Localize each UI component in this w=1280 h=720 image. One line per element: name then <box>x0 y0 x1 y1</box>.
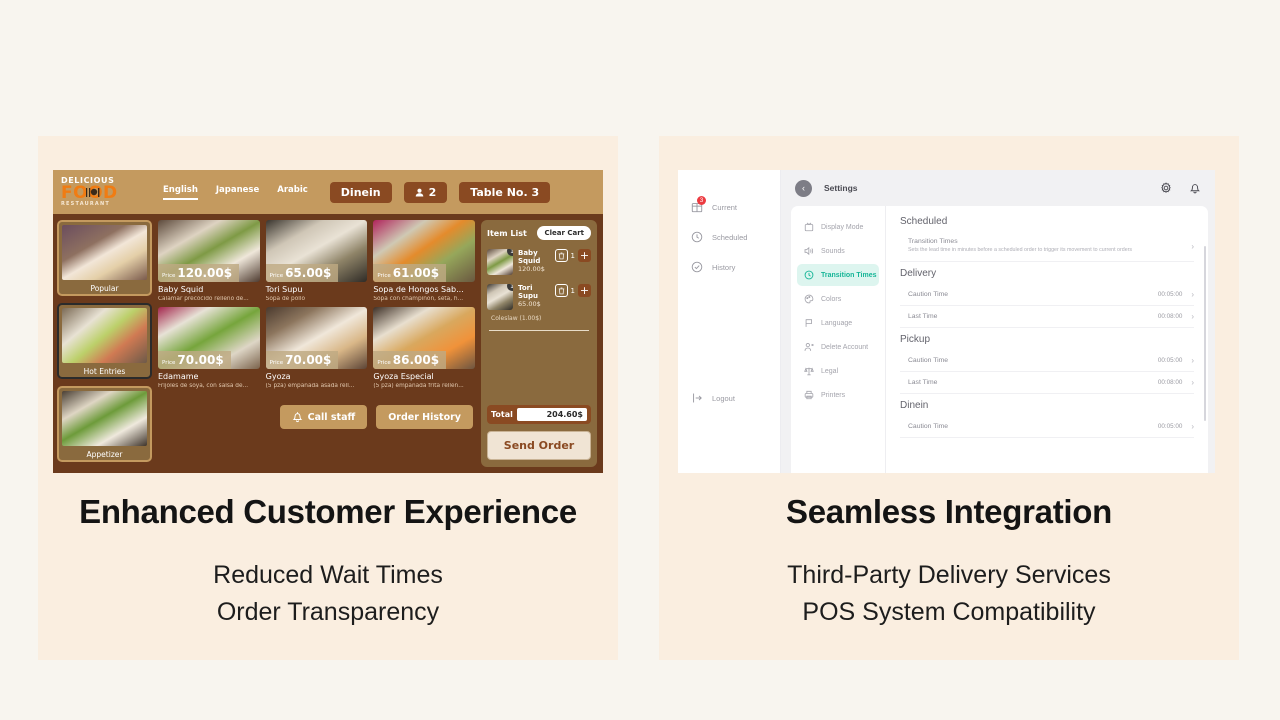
table-pill[interactable]: Table No. 3 <box>459 182 550 203</box>
feature-subtitle-line: Order Transparency <box>38 594 618 631</box>
nav-label: Language <box>821 320 852 327</box>
trash-icon[interactable] <box>555 249 568 262</box>
cart-panel: Item List Clear Cart 1 Baby Squid <box>481 214 603 473</box>
feature-title-left: Enhanced Customer Experience <box>38 493 618 531</box>
row-value: 00:08:00 <box>1158 379 1183 386</box>
user-remove-icon <box>804 342 814 352</box>
setting-row-delivery-caution-time[interactable]: Caution Time 00:05:00 › <box>900 284 1194 306</box>
chevron-right-icon: › <box>1191 378 1194 387</box>
menu-item-desc: (5 pza) empanada asada rell... <box>266 383 368 389</box>
menu-item-name: Tori Supu <box>266 285 368 294</box>
cart-item-name: Baby Squid <box>518 249 550 265</box>
feature-subtitle-right: Third-Party Delivery Services POS System… <box>659 557 1239 631</box>
restaurant-body: Popular Hot Entries Appetizer <box>53 214 603 473</box>
chevron-right-icon: › <box>1191 312 1194 321</box>
menu-item-price: Price 65.00$ <box>266 264 339 282</box>
cart-item-price: 120.00$ <box>518 266 550 273</box>
cart-item-text: Tori Supu 65.00$ <box>518 284 550 309</box>
add-quantity-button[interactable]: + <box>578 284 591 297</box>
flag-icon <box>804 318 814 328</box>
feature-subtitle-line: Third-Party Delivery Services <box>659 557 1239 594</box>
setting-row-delivery-last-time[interactable]: Last Time 00:08:00 › <box>900 306 1194 328</box>
lang-tab-arabic[interactable]: Arabic <box>277 185 308 200</box>
restaurant-app-screenshot: DELICIOUS FOOD <box>53 170 603 473</box>
nav-label: Transition Times <box>821 272 877 279</box>
trash-icon[interactable] <box>555 284 568 297</box>
settings-header: ‹ Settings <box>781 170 1215 206</box>
language-tabs: English Japanese Arabic <box>163 185 308 200</box>
price-value: 65.00$ <box>285 266 331 280</box>
menu-item-desc: Sopa con champiñón, seta, h... <box>373 296 475 302</box>
menu-item-desc: Frijoles de soya, con salsa de... <box>158 383 260 389</box>
setting-row-transition-times[interactable]: Transition Times Sets the lead time in m… <box>900 232 1194 262</box>
menu-item-name: Baby Squid <box>158 285 260 294</box>
settings-scrollbar[interactable] <box>1204 246 1206 421</box>
menu-item-image: Price 70.00$ <box>266 307 368 369</box>
cart-item-controls: 1 + <box>555 249 591 262</box>
category-rail: Popular Hot Entries Appetizer <box>53 214 156 473</box>
person-icon <box>415 188 424 197</box>
order-history-button[interactable]: Order History <box>376 405 473 429</box>
section-title-pickup: Pickup <box>900 334 1194 345</box>
nav-label: Display Mode <box>821 224 863 231</box>
display-icon <box>804 222 814 232</box>
menu-item-desc: (5 pza) empanada frita rellen... <box>373 383 475 389</box>
lang-tab-english[interactable]: English <box>163 185 198 200</box>
category-label: Popular <box>59 284 150 293</box>
feature-card-right: 3 Current Scheduled <box>659 136 1239 660</box>
menu-item-desc: Sopa de pollo <box>266 296 368 302</box>
category-image <box>62 225 147 280</box>
logout-icon <box>691 392 703 404</box>
cart-total-label: Total <box>491 410 513 419</box>
price-word: Price <box>377 360 390 366</box>
menu-item[interactable]: Price 61.00$ Sopa de Hongos Sab... Sopa … <box>373 220 475 302</box>
feature-subtitle-line: POS System Compatibility <box>659 594 1239 631</box>
setting-row-pickup-caution-time[interactable]: Caution Time 00:05:00 › <box>900 350 1194 372</box>
cart-item: 1 Baby Squid 120.00$ <box>487 240 591 275</box>
menu-item-image: Price 61.00$ <box>373 220 475 282</box>
row-main: Transition Times Sets the lead time in m… <box>908 238 1191 255</box>
price-value: 70.00$ <box>177 353 223 367</box>
send-order-button[interactable]: Send Order <box>487 431 591 460</box>
row-name: Caution Time <box>908 291 1158 298</box>
cart-item-thumb: 1 <box>487 284 513 310</box>
cart-item-thumb: 1 <box>487 249 513 275</box>
printer-icon <box>804 390 814 400</box>
category-label: Hot Entries <box>59 367 150 376</box>
slide-canvas: DELICIOUS FOOD <box>0 0 1280 720</box>
cutlery-icon <box>85 188 101 197</box>
cart-footer: Total 204.60$ Send Order <box>487 405 591 460</box>
restaurant-app: DELICIOUS FOOD <box>53 170 603 473</box>
clock-icon <box>691 231 703 243</box>
rail-label: Scheduled <box>712 233 747 242</box>
row-name: Last Time <box>908 313 1158 320</box>
price-value: 120.00$ <box>177 266 232 280</box>
menu-item[interactable]: Price 65.00$ Tori Supu Sopa de pollo <box>266 220 368 302</box>
row-main: Caution Time <box>908 291 1158 298</box>
cart-item-option: Coleslaw (1.00$) <box>491 315 591 322</box>
feature-title-right: Seamless Integration <box>659 493 1239 531</box>
cart-total-row: Total 204.60$ <box>487 405 591 424</box>
price-word: Price <box>162 273 175 279</box>
order-mode-pill[interactable]: Dinein <box>330 182 392 203</box>
menu-item-price: Price 70.00$ <box>266 351 339 369</box>
row-main: Caution Time <box>908 357 1158 364</box>
row-main: Caution Time <box>908 423 1158 430</box>
guest-count-value: 2 <box>429 186 437 199</box>
logout-button[interactable]: Logout <box>678 383 780 413</box>
section-title-scheduled: Scheduled <box>900 216 1194 227</box>
cart-item-text: Baby Squid 120.00$ <box>518 249 550 274</box>
menu-item[interactable]: Price 70.00$ Gyoza (5 pza) empanada asad… <box>266 307 368 389</box>
feature-subtitle-left: Reduced Wait Times Order Transparency <box>38 557 618 631</box>
menu-item-price: Price 61.00$ <box>373 264 446 282</box>
row-description: Sets the lead time in minutes before a s… <box>908 247 1191 255</box>
nav-item-colors[interactable]: Colors <box>797 288 879 310</box>
menu-action-buttons: Call staff Order History <box>158 405 475 429</box>
section-title-dinein: Dinein <box>900 400 1194 411</box>
row-name: Caution Time <box>908 357 1158 364</box>
menu-item-image: Price 86.00$ <box>373 307 475 369</box>
check-circle-icon <box>691 261 703 273</box>
menu-item-name: Gyoza Especial <box>373 372 475 381</box>
row-name: Last Time <box>908 379 1158 386</box>
cart-item-qty: 1 <box>571 252 575 260</box>
lang-tab-japanese[interactable]: Japanese <box>216 185 259 200</box>
nav-item-legal[interactable]: Legal <box>797 360 879 382</box>
nav-label: Legal <box>821 368 838 375</box>
row-value: 00:05:00 <box>1158 423 1183 430</box>
cart-total-value: 204.60$ <box>517 408 587 421</box>
chevron-right-icon: › <box>1191 422 1194 431</box>
cart-item-qty: 1 <box>571 287 575 295</box>
rail-label: Current <box>712 203 737 212</box>
rail-item-scheduled[interactable]: Scheduled <box>678 222 780 252</box>
category-appetizer[interactable]: Appetizer <box>57 386 152 462</box>
cart-item-controls: 1 + <box>555 284 591 297</box>
feature-card-left: DELICIOUS FOOD <box>38 136 618 660</box>
settings-content: Scheduled Transition Times Sets the lead… <box>886 206 1208 473</box>
rail-item-current[interactable]: 3 Current <box>678 192 780 222</box>
setting-row-dinein-caution-time[interactable]: Caution Time 00:05:00 › <box>900 416 1194 438</box>
palette-icon <box>804 294 814 304</box>
clear-cart-button[interactable]: Clear Cart <box>537 226 591 240</box>
nav-label: Colors <box>821 296 841 303</box>
category-label: Appetizer <box>59 450 150 459</box>
chevron-left-icon: ‹ <box>802 183 805 193</box>
cart-inner: Item List Clear Cart 1 Baby Squid <box>481 220 597 467</box>
row-main: Last Time <box>908 313 1158 320</box>
cart-divider <box>489 330 589 331</box>
category-popular[interactable]: Popular <box>57 220 152 296</box>
speaker-icon <box>804 246 814 256</box>
category-hot-entries[interactable]: Hot Entries <box>57 303 152 379</box>
price-value: 70.00$ <box>285 353 331 367</box>
guest-count-pill[interactable]: 2 <box>404 182 448 203</box>
call-staff-button[interactable]: Call staff <box>280 405 368 429</box>
brand-logo: DELICIOUS FOOD <box>53 177 153 207</box>
row-main: Last Time <box>908 379 1158 386</box>
settings-panel: Display Mode Sounds <box>791 206 1208 473</box>
menu-item-image: Price 65.00$ <box>266 220 368 282</box>
nav-item-printers[interactable]: Printers <box>797 384 879 406</box>
menu-item-price: Price 120.00$ <box>158 264 239 282</box>
bell-icon <box>292 411 303 423</box>
rail-logout-wrap: Logout <box>678 383 780 413</box>
order-context-pills: Dinein 2 Table No. 3 <box>330 182 550 203</box>
feature-subtitle-line: Reduced Wait Times <box>38 557 618 594</box>
settings-nav: Display Mode Sounds <box>791 206 886 473</box>
nav-item-language[interactable]: Language <box>797 312 879 334</box>
menu-grid: Price 120.00$ Baby Squid Calamar precoci… <box>158 220 475 389</box>
nav-item-display-mode[interactable]: Display Mode <box>797 216 879 238</box>
setting-row-pickup-last-time[interactable]: Last Time 00:08:00 › <box>900 372 1194 394</box>
price-word: Price <box>162 360 175 366</box>
cart-item: 1 Tori Supu 65.00$ <box>487 275 591 310</box>
cart-item-name: Tori Supu <box>518 284 550 300</box>
back-button[interactable]: ‹ <box>795 180 812 197</box>
menu-item[interactable]: Price 120.00$ Baby Squid Calamar precoci… <box>158 220 260 302</box>
menu-item-desc: Calamar precocido relleno de... <box>158 296 260 302</box>
chevron-right-icon: › <box>1191 242 1194 251</box>
app-rail: 3 Current Scheduled <box>678 170 781 473</box>
settings-main: ‹ Settings <box>781 170 1215 473</box>
order-history-label: Order History <box>388 412 461 423</box>
menu-item-image: Price 120.00$ <box>158 220 260 282</box>
gear-icon[interactable] <box>1160 182 1172 194</box>
nav-label: Printers <box>821 392 845 399</box>
menu-item-price: Price 86.00$ <box>373 351 446 369</box>
row-value: 00:08:00 <box>1158 313 1183 320</box>
menu-item-name: Gyoza <box>266 372 368 381</box>
settings-app-screenshot: 3 Current Scheduled <box>678 170 1215 473</box>
category-image <box>62 308 147 363</box>
scales-icon <box>804 366 814 376</box>
call-staff-label: Call staff <box>308 412 356 423</box>
rail-item-history[interactable]: History <box>678 252 780 282</box>
cart-header: Item List Clear Cart <box>487 226 591 240</box>
category-image <box>62 391 147 446</box>
nav-label: Delete Account <box>821 344 868 351</box>
row-name: Caution Time <box>908 423 1158 430</box>
section-title-delivery: Delivery <box>900 268 1194 279</box>
nav-label: Sounds <box>821 248 845 255</box>
restaurant-top-bar: DELICIOUS FOOD <box>53 170 603 214</box>
menu-area: Price 120.00$ Baby Squid Calamar precoci… <box>156 214 481 473</box>
price-value: 61.00$ <box>393 266 439 280</box>
nav-item-sounds[interactable]: Sounds <box>797 240 879 262</box>
price-value: 86.00$ <box>393 353 439 367</box>
chevron-right-icon: › <box>1191 290 1194 299</box>
nav-item-delete-account[interactable]: Delete Account <box>797 336 879 358</box>
menu-item-image: Price 70.00$ <box>158 307 260 369</box>
cart-item-price: 65.00$ <box>518 301 550 308</box>
logo-line-2: FOOD <box>61 185 153 202</box>
settings-title: Settings <box>824 183 858 193</box>
chevron-right-icon: › <box>1191 356 1194 365</box>
add-quantity-button[interactable]: + <box>578 249 591 262</box>
row-value: 00:05:00 <box>1158 291 1183 298</box>
settings-app: 3 Current Scheduled <box>678 170 1215 473</box>
menu-item-name: Sopa de Hongos Sab... <box>373 285 475 294</box>
menu-item[interactable]: Price 70.00$ Edamame Frijoles de soya, c… <box>158 307 260 389</box>
menu-item-price: Price 70.00$ <box>158 351 231 369</box>
logout-label: Logout <box>712 394 735 403</box>
menu-item[interactable]: Price 86.00$ Gyoza Especial (5 pza) empa… <box>373 307 475 389</box>
menu-item-name: Edamame <box>158 372 260 381</box>
price-word: Price <box>270 360 283 366</box>
current-badge: 3 <box>697 196 706 205</box>
rail-label: History <box>712 263 735 272</box>
clock-icon <box>804 270 814 280</box>
bell-icon[interactable] <box>1189 182 1201 194</box>
row-value: 00:05:00 <box>1158 357 1183 364</box>
price-word: Price <box>270 273 283 279</box>
price-word: Price <box>377 273 390 279</box>
row-name: Transition Times <box>908 238 1191 245</box>
header-icons <box>1160 182 1201 194</box>
nav-item-transition-times[interactable]: Transition Times <box>797 264 879 286</box>
cart-title: Item List <box>487 229 527 238</box>
